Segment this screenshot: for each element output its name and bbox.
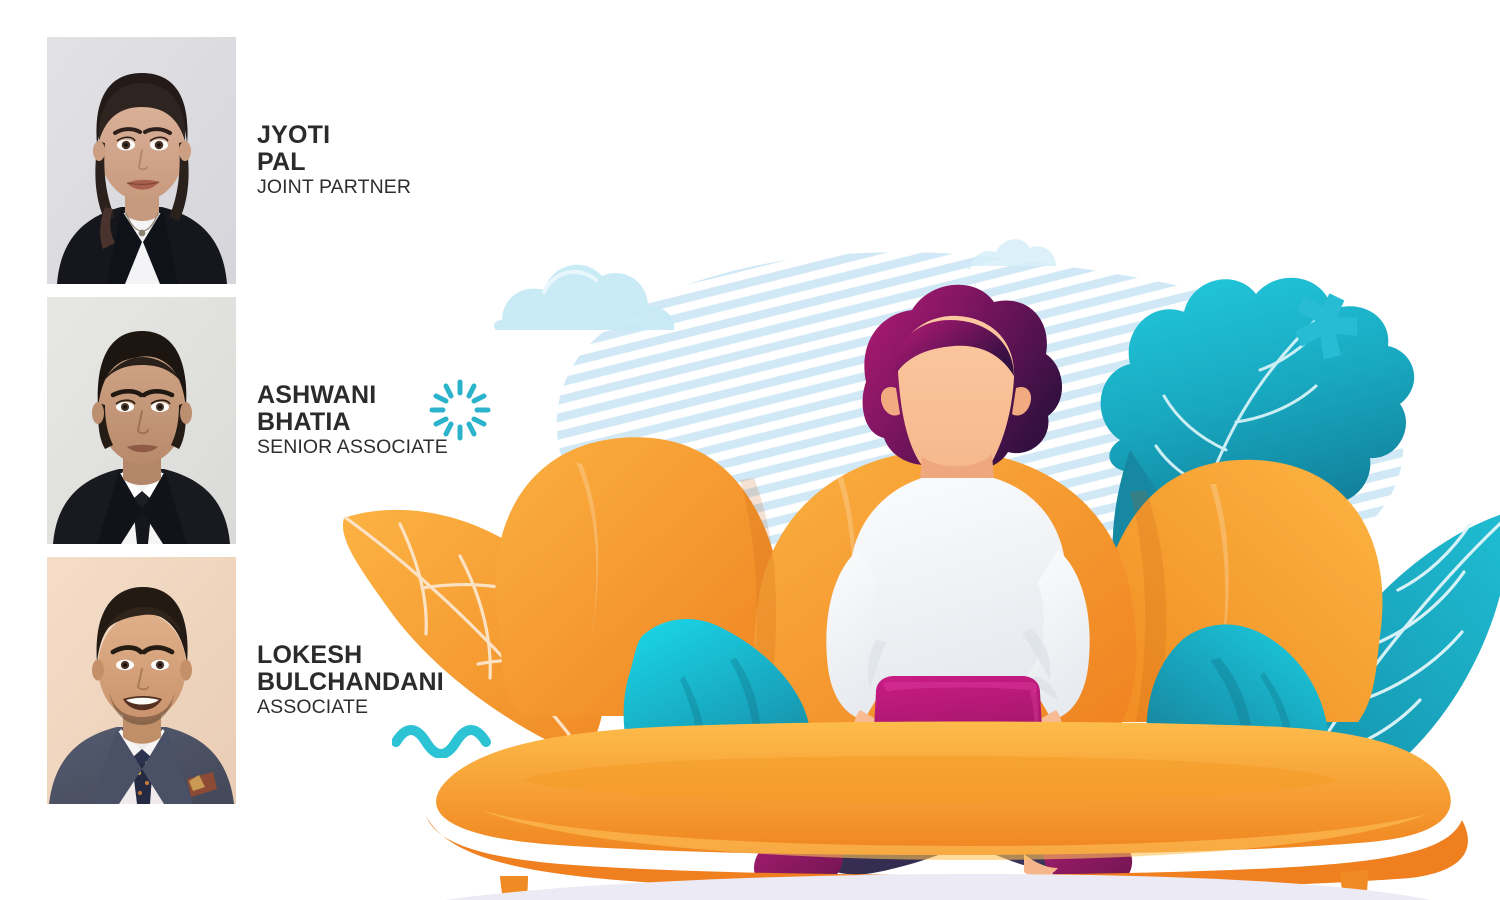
team-page: JYOTI PAL JOINT PARTNER xyxy=(0,0,1500,900)
avatar xyxy=(47,557,236,804)
orange-sofa-seat xyxy=(426,722,1468,900)
person-working-on-laptop-illustration xyxy=(330,120,1500,900)
sweater xyxy=(850,478,1067,696)
ashwani-bhatia-headshot xyxy=(47,297,236,544)
cloud-shape-small xyxy=(964,239,1056,270)
avatar xyxy=(47,297,236,544)
jyoti-pal-headshot xyxy=(47,37,236,284)
lokesh-bulchandani-headshot xyxy=(47,557,236,804)
cloud-shape xyxy=(494,265,674,330)
avatar xyxy=(47,37,236,284)
